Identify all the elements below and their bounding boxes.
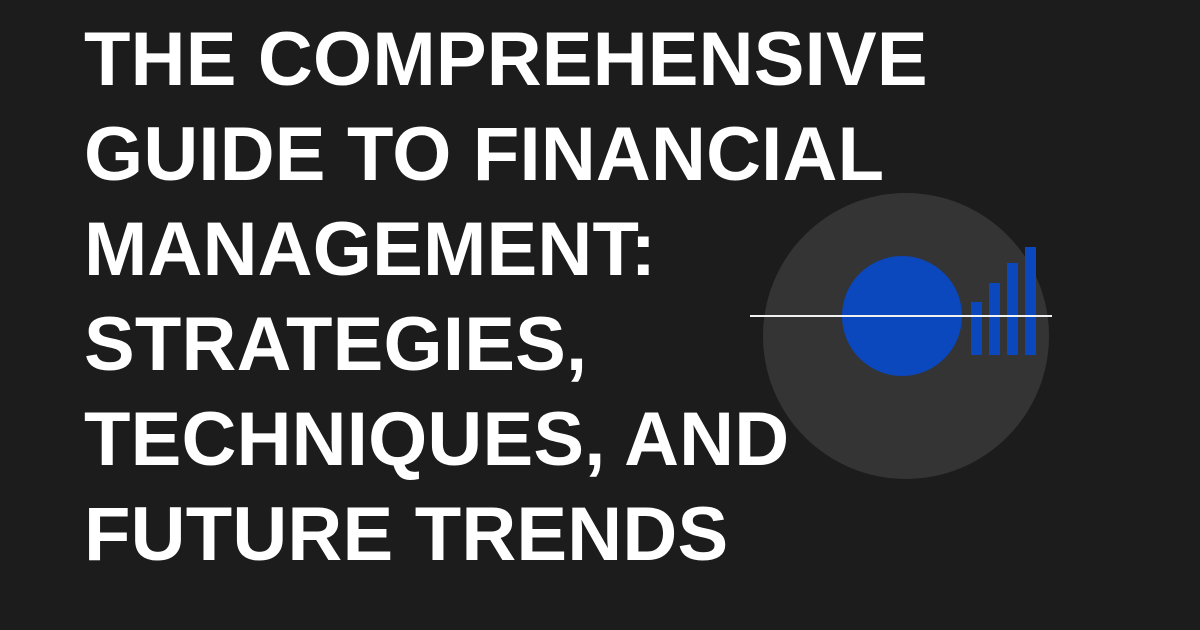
cover-canvas: THE COMPREHENSIVE GUIDE TO FINANCIAL MAN…: [0, 0, 1200, 630]
page-title: THE COMPREHENSIVE GUIDE TO FINANCIAL MAN…: [84, 12, 1084, 582]
